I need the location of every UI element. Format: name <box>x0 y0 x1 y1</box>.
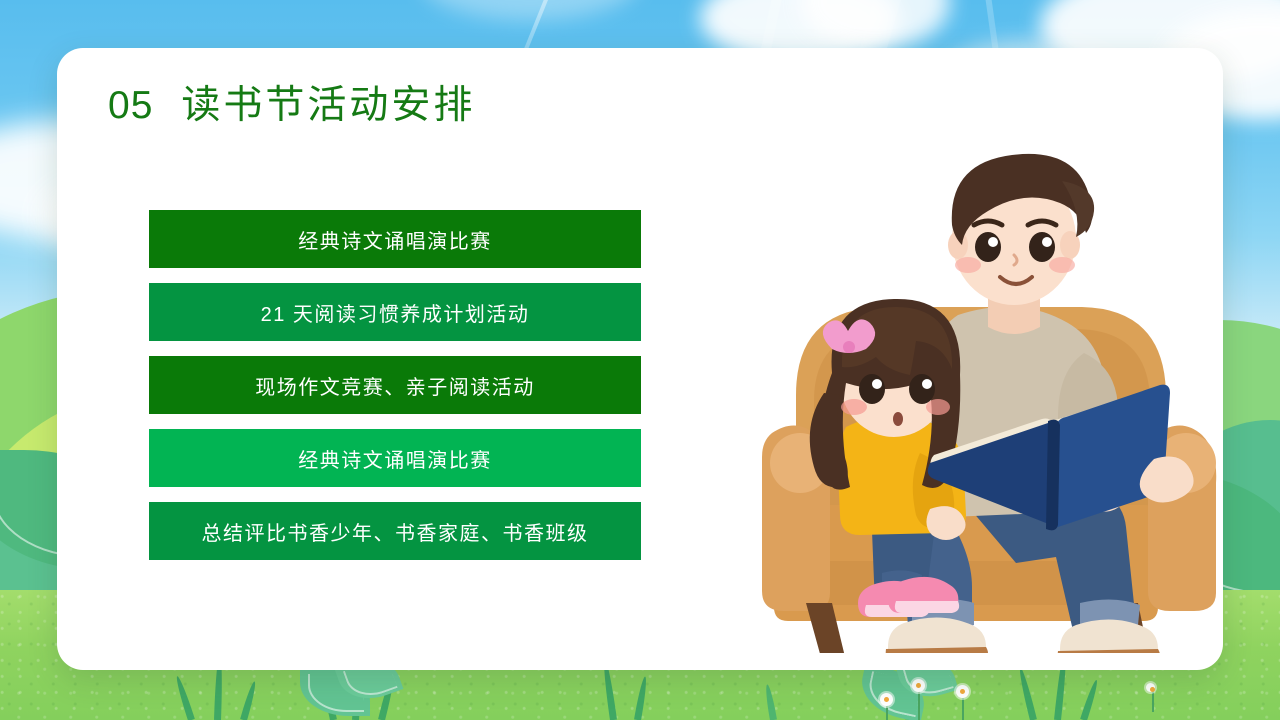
activity-bar[interactable]: 21 天阅读习惯养成计划活动 <box>149 283 641 341</box>
girl-left-eye <box>859 374 885 404</box>
daisy-flower-icon <box>912 679 925 692</box>
activity-bar[interactable]: 经典诗文诵唱演比赛 <box>149 429 641 487</box>
father-and-daughter-reading-illustration <box>762 133 1262 653</box>
girl-right-blush <box>926 399 950 415</box>
girl-right-shoe-sole <box>895 601 959 613</box>
daisy-flower-icon <box>956 685 969 698</box>
page-title: 05 读书节活动安排 <box>108 74 475 130</box>
activity-bar-label: 总结评比书香少年、书香家庭、书香班级 <box>202 517 589 546</box>
activity-bar-label: 经典诗文诵唱演比赛 <box>298 225 492 254</box>
cloud-icon <box>420 0 640 20</box>
girl-hair-bow-knot <box>843 341 855 353</box>
father-left-eye-highlight <box>988 237 998 247</box>
activity-bar[interactable]: 现场作文竞赛、亲子阅读活动 <box>149 356 641 414</box>
girl-left-eye-highlight <box>872 379 882 389</box>
book-spine <box>1046 420 1060 531</box>
activity-bar[interactable]: 总结评比书香少年、书香家庭、书香班级 <box>149 502 641 560</box>
girl-right-eye <box>909 374 935 404</box>
father-right-eye <box>1029 232 1055 262</box>
girl-mouth <box>893 412 903 426</box>
girl-right-eye-highlight <box>922 379 932 389</box>
daisy-flower-icon <box>1146 683 1155 692</box>
father-left-blush <box>955 257 981 273</box>
content-card: 05 读书节活动安排 经典诗文诵唱演比赛 21 天阅读习惯养成计划活动 现场作文… <box>57 48 1223 670</box>
activity-bar-list: 经典诗文诵唱演比赛 21 天阅读习惯养成计划活动 现场作文竞赛、亲子阅读活动 经… <box>149 210 641 560</box>
flower-stem <box>918 690 920 720</box>
slide-canvas: 05 读书节活动安排 经典诗文诵唱演比赛 21 天阅读习惯养成计划活动 现场作文… <box>0 0 1280 720</box>
daisy-flower-icon <box>880 693 893 706</box>
activity-bar-label: 经典诗文诵唱演比赛 <box>298 444 492 473</box>
father-right-eye-highlight <box>1042 237 1052 247</box>
flower-stem <box>1152 690 1154 712</box>
father-right-blush <box>1049 257 1075 273</box>
girl-left-blush <box>841 399 867 415</box>
activity-bar-label: 现场作文竞赛、亲子阅读活动 <box>255 371 535 400</box>
section-title-text: 读书节活动安排 <box>181 74 475 130</box>
flower-stem <box>886 704 888 720</box>
father-left-eye <box>975 232 1001 262</box>
activity-bar-label: 21 天阅读习惯养成计划活动 <box>261 298 530 327</box>
section-number: 05 <box>108 84 153 128</box>
activity-bar[interactable]: 经典诗文诵唱演比赛 <box>149 210 641 268</box>
flower-stem <box>962 696 964 720</box>
